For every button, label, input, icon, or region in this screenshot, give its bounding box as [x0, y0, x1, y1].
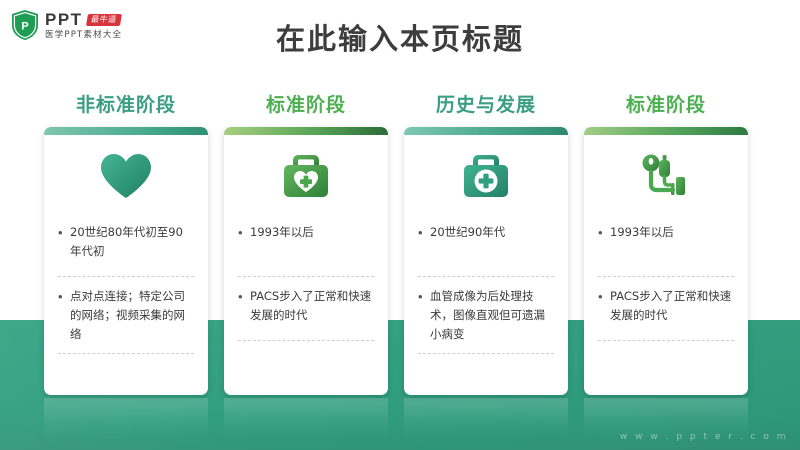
- bullet-dot-icon: •: [58, 223, 70, 242]
- bullet-row: • 20世纪90年代: [418, 219, 554, 277]
- bullet-row: • PACS步入了正常和快速发展的时代: [598, 277, 734, 341]
- bullet-text: PACS步入了正常和快速发展的时代: [250, 287, 374, 325]
- card-icon-wrap-0: [44, 145, 208, 207]
- columns-container: 非标准阶段 •: [44, 90, 760, 410]
- column-1: 标准阶段: [224, 90, 388, 395]
- column-0: 非标准阶段 •: [44, 90, 208, 395]
- column-heading-2: 历史与发展: [404, 90, 568, 120]
- bullet-dot-icon: •: [58, 287, 70, 306]
- card-accent-bar-0: [44, 127, 208, 135]
- bullet-row: • 血管成像为后处理技术，图像直观但可遗漏小病变: [418, 277, 554, 354]
- bullet-row: • PACS步入了正常和快速发展的时代: [238, 277, 374, 341]
- first-aid-kit-icon: [460, 151, 512, 201]
- bullet-text: 1993年以后: [610, 223, 734, 242]
- column-heading-0: 非标准阶段: [44, 90, 208, 120]
- bullet-text: PACS步入了正常和快速发展的时代: [610, 287, 734, 325]
- card-icon-wrap-1: [224, 145, 388, 207]
- bullet-text: 20世纪90年代: [430, 223, 554, 242]
- bullet-text: 点对点连接；特定公司的网络；视频采集的网络: [70, 287, 194, 344]
- bullet-text: 血管成像为后处理技术，图像直观但可遗漏小病变: [430, 287, 554, 344]
- heart-icon: [98, 151, 154, 201]
- bullet-dot-icon: •: [418, 287, 430, 306]
- bullet-row: • 1993年以后: [238, 219, 374, 277]
- card-3[interactable]: • 1993年以后 • PACS步入了正常和快速发展的时代: [584, 127, 748, 395]
- bullet-dot-icon: •: [418, 223, 430, 242]
- column-heading-3: 标准阶段: [584, 90, 748, 120]
- slide-canvas: P PPT 最牛逼 医学PPT素材大全 在此输入本页标题 非标准阶段: [0, 0, 800, 450]
- page-title: 在此输入本页标题: [0, 16, 800, 58]
- bullet-text: 1993年以后: [250, 223, 374, 242]
- bullet-dot-icon: •: [238, 287, 250, 306]
- card-reflection-0: [44, 398, 208, 440]
- card-body-0: • 20世纪80年代初至90年代初 • 点对点连接；特定公司的网络；视频采集的网…: [58, 219, 194, 354]
- blood-pressure-monitor-icon: [638, 151, 694, 201]
- medical-bag-heart-icon: [280, 151, 332, 201]
- card-accent-bar-1: [224, 127, 388, 135]
- column-2: 历史与发展: [404, 90, 568, 395]
- bullet-dot-icon: •: [238, 223, 250, 242]
- bullet-row: • 1993年以后: [598, 219, 734, 277]
- bullet-dot-icon: •: [598, 287, 610, 306]
- bullet-row: • 点对点连接；特定公司的网络；视频采集的网络: [58, 277, 194, 354]
- card-icon-wrap-2: [404, 145, 568, 207]
- bullet-text: 20世纪80年代初至90年代初: [70, 223, 194, 261]
- bullet-row: • 20世纪80年代初至90年代初: [58, 219, 194, 277]
- card-body-3: • 1993年以后 • PACS步入了正常和快速发展的时代: [598, 219, 734, 341]
- card-accent-bar-3: [584, 127, 748, 135]
- card-icon-wrap-3: [584, 145, 748, 207]
- watermark: w w w . p p t e r . c o m: [620, 432, 788, 442]
- card-0[interactable]: • 20世纪80年代初至90年代初 • 点对点连接；特定公司的网络；视频采集的网…: [44, 127, 208, 395]
- column-3: 标准阶段: [584, 90, 748, 395]
- card-reflection-2: [404, 398, 568, 440]
- card-accent-bar-2: [404, 127, 568, 135]
- card-1[interactable]: • 1993年以后 • PACS步入了正常和快速发展的时代: [224, 127, 388, 395]
- column-heading-1: 标准阶段: [224, 90, 388, 120]
- card-2[interactable]: • 20世纪90年代 • 血管成像为后处理技术，图像直观但可遗漏小病变: [404, 127, 568, 395]
- bullet-dot-icon: •: [598, 223, 610, 242]
- card-reflection-1: [224, 398, 388, 440]
- card-body-1: • 1993年以后 • PACS步入了正常和快速发展的时代: [238, 219, 374, 341]
- card-body-2: • 20世纪90年代 • 血管成像为后处理技术，图像直观但可遗漏小病变: [418, 219, 554, 354]
